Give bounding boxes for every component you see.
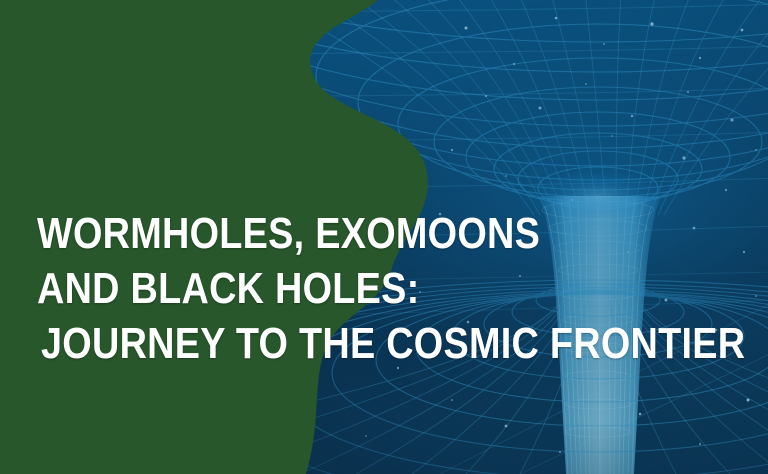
headline-line-3: Journey to the Cosmic Frontier	[41, 316, 640, 371]
banner-image: Wormholes, Exomoons and Black Holes: Jou…	[0, 0, 768, 474]
headline-line-2: and Black Holes:	[37, 261, 639, 316]
page-title: Wormholes, Exomoons and Black Holes: Jou…	[37, 206, 737, 371]
headline-line-1: Wormholes, Exomoons	[37, 206, 639, 261]
